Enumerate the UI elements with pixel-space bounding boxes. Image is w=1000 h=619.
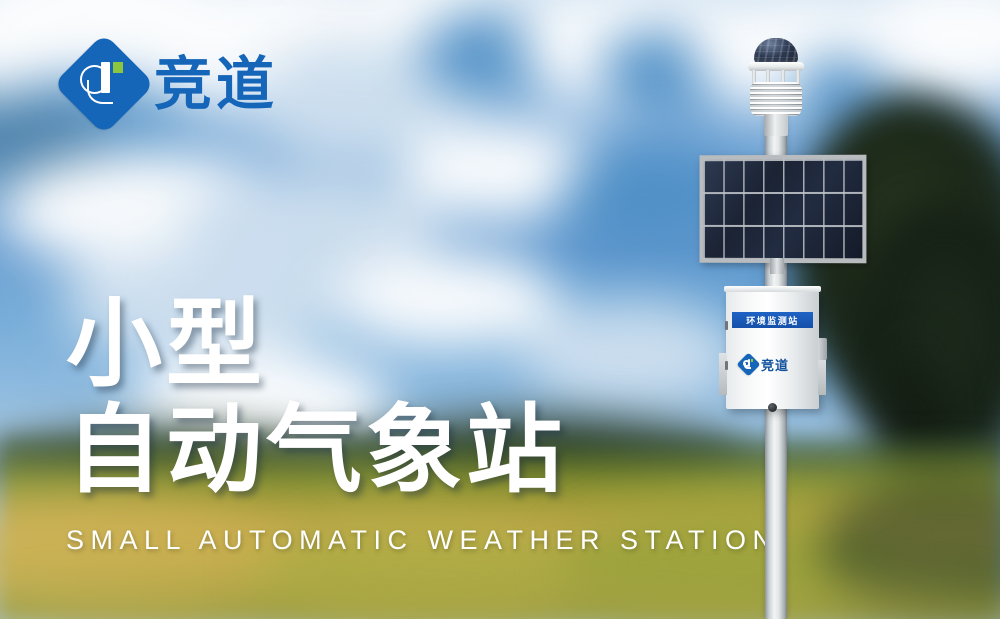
enclosure-label-text: 环境监测站 [746,314,799,327]
weather-station-product: 环境监测站 竞道 [0,0,1000,619]
enclosure-side-tab [818,338,827,360]
enclosure-vent-upper [725,321,728,330]
equipment-enclosure: 环境监测站 竞道 [726,291,819,409]
solar-panel [700,155,867,264]
enclosure-vent-lower [725,361,728,370]
jingdao-diamond-logo-icon-small [740,356,757,373]
enclosure-mount-bolt [768,403,777,412]
enclosure-left-flange [719,353,727,395]
enclosure-top-cap [724,286,821,292]
sensor-dome-icon [754,38,798,64]
enclosure-brand-logo: 竞道 [740,355,789,374]
louvered-radiation-shield [750,82,802,116]
promotional-banner: 竞道 小型 自动气象站 SMALL AUTOMATIC WEATHER STAT… [0,0,1000,619]
solar-panel-cells [703,159,862,260]
solar-panel-bracket [770,258,784,274]
ultrasonic-weather-sensor [742,38,810,124]
enclosure-label-band: 环境监测站 [732,312,813,328]
enclosure-brand-text: 竞道 [761,355,789,374]
sensor-neck [764,114,788,136]
